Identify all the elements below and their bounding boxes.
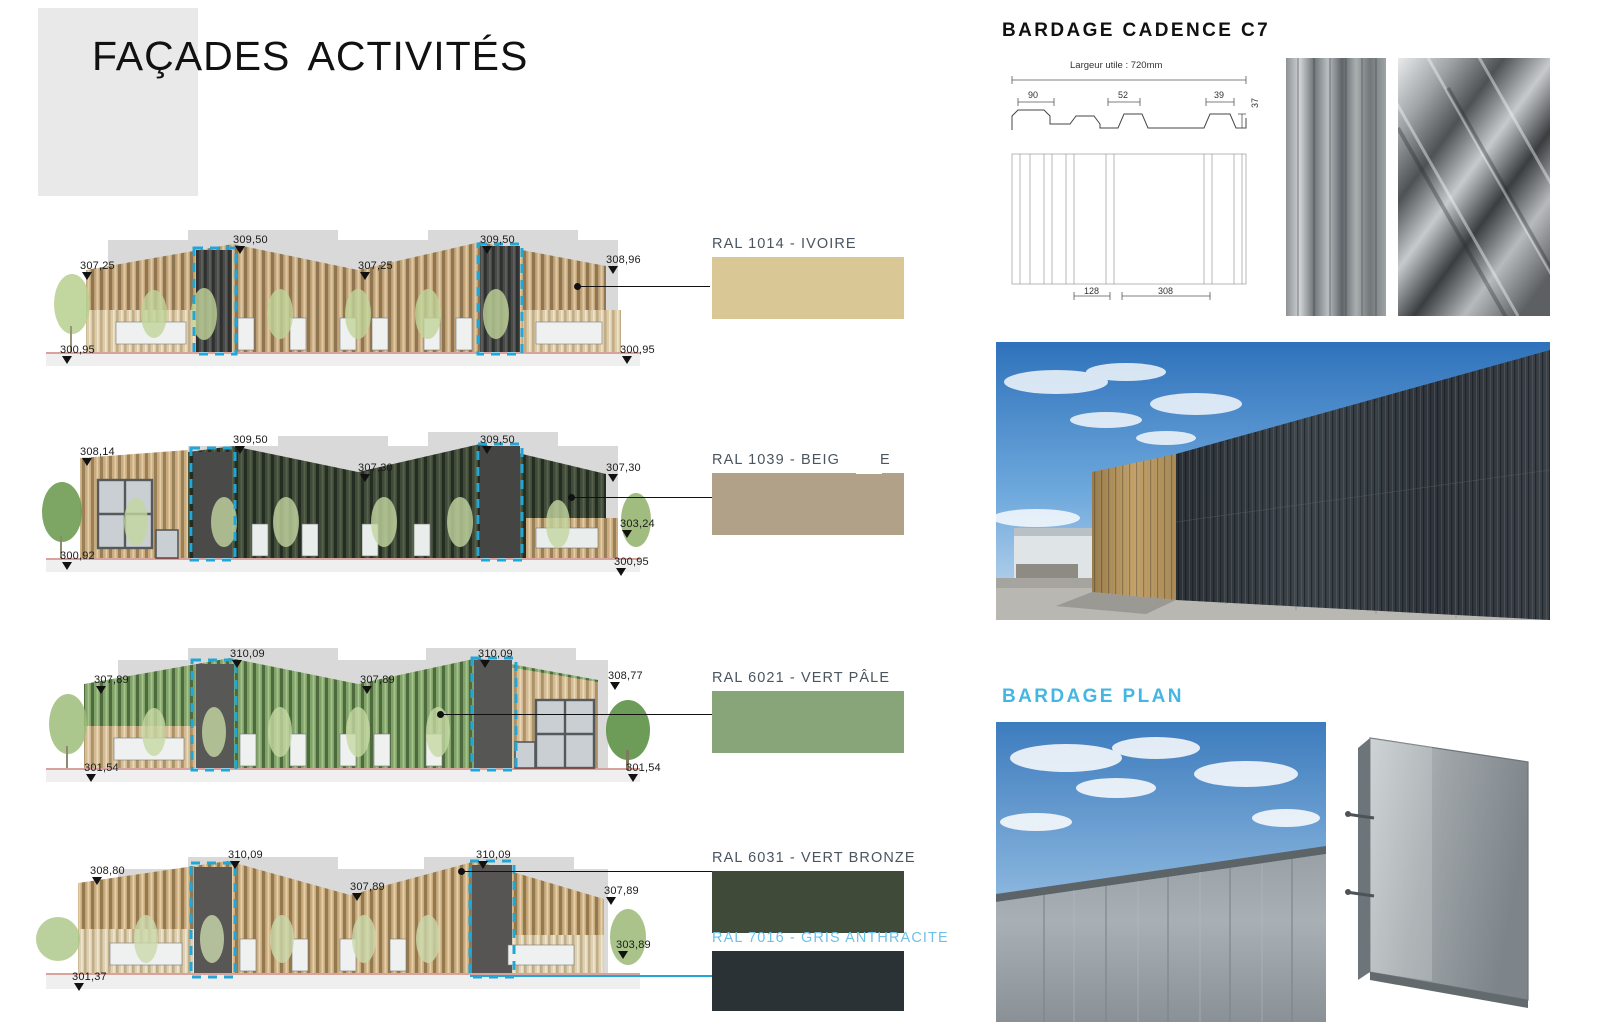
photo-bardage-plan-svg [996, 722, 1326, 1022]
level-marker: 308,77 [608, 670, 643, 682]
level-marker: 303,89 [616, 939, 651, 951]
legend-color-ral-1039 [712, 473, 904, 535]
level-marker: 300,95 [614, 556, 649, 568]
legend-fragment-label: E [880, 452, 908, 468]
dim-52: 52 [1118, 90, 1128, 100]
dim-128: 128 [1084, 286, 1099, 296]
level-marker: 300,92 [60, 550, 95, 562]
level-marker: 307,89 [360, 674, 395, 686]
level-marker: 309,50 [480, 434, 515, 446]
legend-swatch-ral-7016[interactable]: RAL 7016 - GRIS ANTHRACITE [712, 930, 949, 1011]
level-marker: 310,09 [476, 849, 511, 861]
legend-color-ral-6031 [712, 871, 904, 933]
legend-fragment-shape [888, 473, 902, 535]
level-marker: 309,50 [480, 234, 515, 246]
material-strip-metal-sheen [1398, 58, 1550, 316]
section-heading-plan: BARDAGE PLAN [1002, 686, 1184, 708]
level-marker: 307,89 [604, 885, 639, 897]
elevation-2-graphic [28, 428, 653, 593]
photo-facade-anthracite-bois [996, 342, 1550, 620]
level-marker: 309,50 [233, 234, 268, 246]
dim-largeur-utile: Largeur utile : 720mm [1070, 60, 1162, 71]
legend-swatch-ral-6021[interactable]: RAL 6021 - VERT PÂLE [712, 670, 904, 753]
elevation-1-graphic [28, 222, 653, 387]
level-marker: 301,54 [84, 762, 119, 774]
level-marker: 301,54 [626, 762, 661, 774]
photo-facade-svg [996, 342, 1550, 620]
leader-line-2 [572, 497, 712, 498]
leader-line-3 [441, 714, 712, 715]
section-heading-cadence: BARDAGE CADENCE C7 [1002, 20, 1270, 42]
panel-3d-svg [1340, 722, 1555, 1022]
legend-label-ral-6021: RAL 6021 - VERT PÂLE [712, 670, 904, 686]
legend-swatch-ral-6031[interactable]: RAL 6031 - VERT BRONZE [712, 850, 916, 933]
leader-line-1 [578, 286, 710, 287]
legend-color-ral-1014 [712, 257, 904, 319]
level-marker: 303,24 [620, 518, 655, 530]
legend-label-mask [856, 444, 882, 474]
material-strip-anthracite [1286, 58, 1386, 316]
level-marker: 307,89 [350, 881, 385, 893]
material-strip-anthracite-svg [1286, 58, 1386, 316]
level-marker: 310,09 [478, 648, 513, 660]
cadence-profile-drawing: Largeur utile : 720mm 90 52 39 37 128 30… [998, 58, 1260, 316]
level-marker: 301,37 [72, 971, 107, 983]
panel-3d-illustration [1340, 722, 1555, 1022]
level-marker: 307,30 [358, 462, 393, 474]
level-marker: 300,95 [60, 344, 95, 356]
elevation-drawing-3: 310,09 307,89 307,89 310,09 308,77 301,5… [28, 638, 653, 803]
level-marker: 307,25 [358, 260, 393, 272]
level-marker: 308,96 [606, 254, 641, 266]
dim-39: 39 [1214, 90, 1224, 100]
elevation-drawing-1: 307,25 309,50 307,25 309,50 308,96 300,9… [28, 222, 653, 387]
level-marker: 307,30 [606, 462, 641, 474]
leader-line-5-cyan [470, 975, 712, 977]
level-marker: 307,25 [80, 260, 115, 272]
level-marker: 309,50 [233, 434, 268, 446]
level-marker: 300,95 [620, 344, 655, 356]
level-marker: 307,89 [94, 674, 129, 686]
dim-37: 37 [1250, 98, 1260, 108]
elevation-drawing-4: 308,80 310,09 307,89 310,09 307,89 303,8… [28, 843, 653, 1008]
level-marker: 308,80 [90, 865, 125, 877]
legend-fragment-ral-1039: E [880, 452, 908, 535]
photo-bardage-plan [996, 722, 1326, 1022]
legend-label-ral-1014: RAL 1014 - IVOIRE [712, 236, 904, 252]
elevation-3-graphic [28, 638, 653, 803]
dim-308: 308 [1158, 286, 1173, 296]
legend-label-ral-6031: RAL 6031 - VERT BRONZE [712, 850, 916, 866]
dim-90: 90 [1028, 90, 1038, 100]
legend-swatch-ral-1014[interactable]: RAL 1014 - IVOIRE [712, 236, 904, 319]
legend-color-ral-7016 [712, 951, 904, 1011]
legend-color-ral-6021 [712, 691, 904, 753]
legend-label-ral-7016: RAL 7016 - GRIS ANTHRACITE [712, 930, 949, 946]
level-marker: 308,14 [80, 446, 115, 458]
page-title: Façades Activités [92, 18, 528, 85]
material-strip-metal-svg [1398, 58, 1550, 316]
level-marker: 310,09 [228, 849, 263, 861]
level-marker: 310,09 [230, 648, 265, 660]
elevation-drawing-2: 308,14 309,50 307,30 309,50 307,30 303,2… [28, 428, 653, 593]
leader-line-4 [462, 871, 712, 872]
